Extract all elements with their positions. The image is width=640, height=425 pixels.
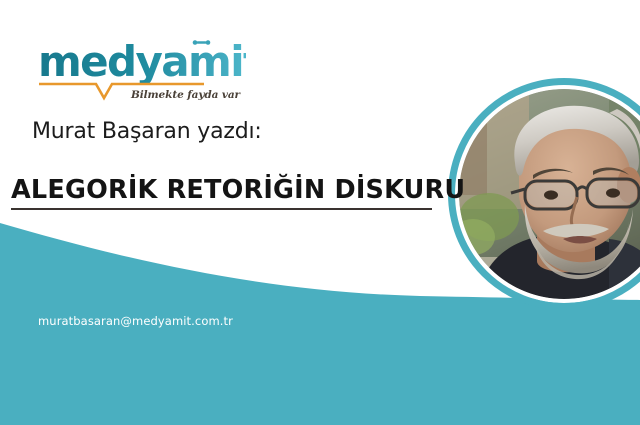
headline-block: ALEGORİK RETORİĞİN DİSKURU — [11, 177, 441, 210]
medyamit-logo[interactable]: medyamit Bilmekte fayda var — [36, 36, 246, 108]
headline-underline — [11, 208, 432, 210]
article-headline: ALEGORİK RETORİĞİN DİSKURU — [11, 177, 441, 205]
portrait-outer-teal-ring — [448, 78, 640, 310]
article-byline: Murat Başaran yazdı: — [32, 119, 262, 144]
article-banner: medyamit Bilmekte fayda var Murat Başara… — [0, 0, 640, 425]
logo-wordmark: medyamit — [38, 37, 246, 86]
logo-tagline: Bilmekte fayda var — [130, 89, 242, 101]
author-email[interactable]: muratbasaran@medyamit.com.tr — [38, 314, 233, 328]
author-portrait — [448, 78, 640, 310]
